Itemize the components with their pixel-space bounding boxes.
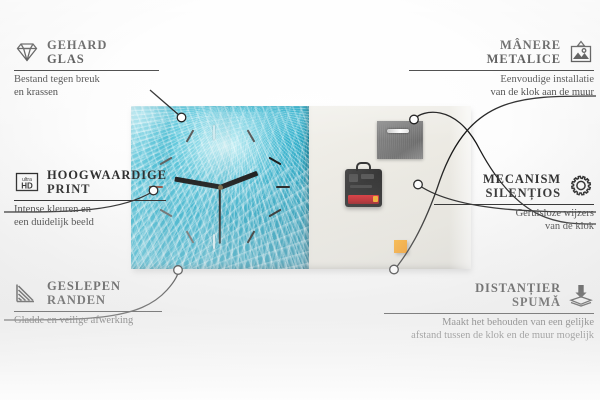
metal-hanger-plate (377, 121, 423, 159)
callout-desc: Maakt het behouden van een gelijke afsta… (384, 317, 594, 342)
callout-title: GESLEPEN RANDEN (47, 279, 121, 307)
callout-title: MECANISM SILENȚIOS (483, 172, 561, 200)
callout-desc: Bestand tegen breuk en krassen (14, 74, 174, 99)
callout-geslepen-randen: GESLEPEN RANDEN Gladde en veilige afwerk… (14, 279, 174, 328)
callout-rule (409, 70, 594, 71)
clock-tick-3 (276, 186, 290, 188)
battery (348, 195, 379, 204)
beveled-edges-icon (14, 281, 40, 305)
clock-second-hand (219, 187, 221, 243)
callout-title: HOOGWAARDIGE PRINT (47, 168, 167, 196)
callout-title: DISTANȚIER SPUMĂ (475, 281, 561, 309)
clock-tick-6 (213, 234, 215, 249)
clock-tick-12 (213, 125, 215, 140)
callout-mecanism-silentios: MECANISM SILENȚIOS Geruisloze wijzers va… (434, 172, 594, 233)
spacer-stack-icon (568, 283, 594, 307)
mechanism-detail-1 (349, 174, 358, 182)
clock-tick-7 (186, 230, 195, 243)
gear-icon (568, 174, 594, 198)
callout-rule (14, 200, 166, 201)
callout-distantier-spuma: DISTANȚIER SPUMĂ Maakt het behouden van … (384, 281, 594, 342)
picture-hanger-icon (568, 40, 594, 64)
svg-text:HD: HD (21, 182, 33, 191)
clock-mechanism (345, 169, 382, 207)
callout-rule (384, 313, 594, 314)
clock-tick-5 (247, 230, 256, 243)
diamond-icon (14, 40, 40, 64)
callout-rule (14, 70, 159, 71)
callout-hoogwaardige-print: ultra HD HOOGWAARDIGE PRINT Intense kleu… (14, 168, 184, 229)
callout-rule (434, 204, 594, 205)
callout-rule (14, 311, 162, 312)
callout-desc: Gladde en veilige afwerking (14, 315, 174, 328)
clock-center-cap (218, 185, 223, 190)
clock-tick-2 (268, 157, 281, 166)
callout-title: GEHARD GLAS (47, 38, 107, 66)
mechanism-hanging-loop (356, 162, 371, 171)
mechanism-detail-3 (350, 185, 372, 188)
callout-manere-metalice: MÂNERE METALICE Eenvoudige installatie v… (409, 38, 594, 99)
callout-gehard-glas: GEHARD GLAS Bestand tegen breuk en krass… (14, 38, 174, 99)
callout-desc: Geruisloze wijzers van de klok (434, 208, 594, 233)
mechanism-detail-2 (361, 174, 374, 179)
callout-desc: Intense kleuren en een duidelijk beeld (14, 204, 184, 229)
ultra-hd-icon: ultra HD (14, 170, 40, 194)
callout-desc: Eenvoudige installatie van de klok aan d… (409, 74, 594, 99)
callout-title: MÂNERE METALICE (487, 38, 561, 66)
hanger-slot (387, 129, 409, 133)
infographic-canvas: GEHARD GLAS Bestand tegen breuk en krass… (0, 0, 600, 400)
foam-spacer (394, 240, 407, 253)
